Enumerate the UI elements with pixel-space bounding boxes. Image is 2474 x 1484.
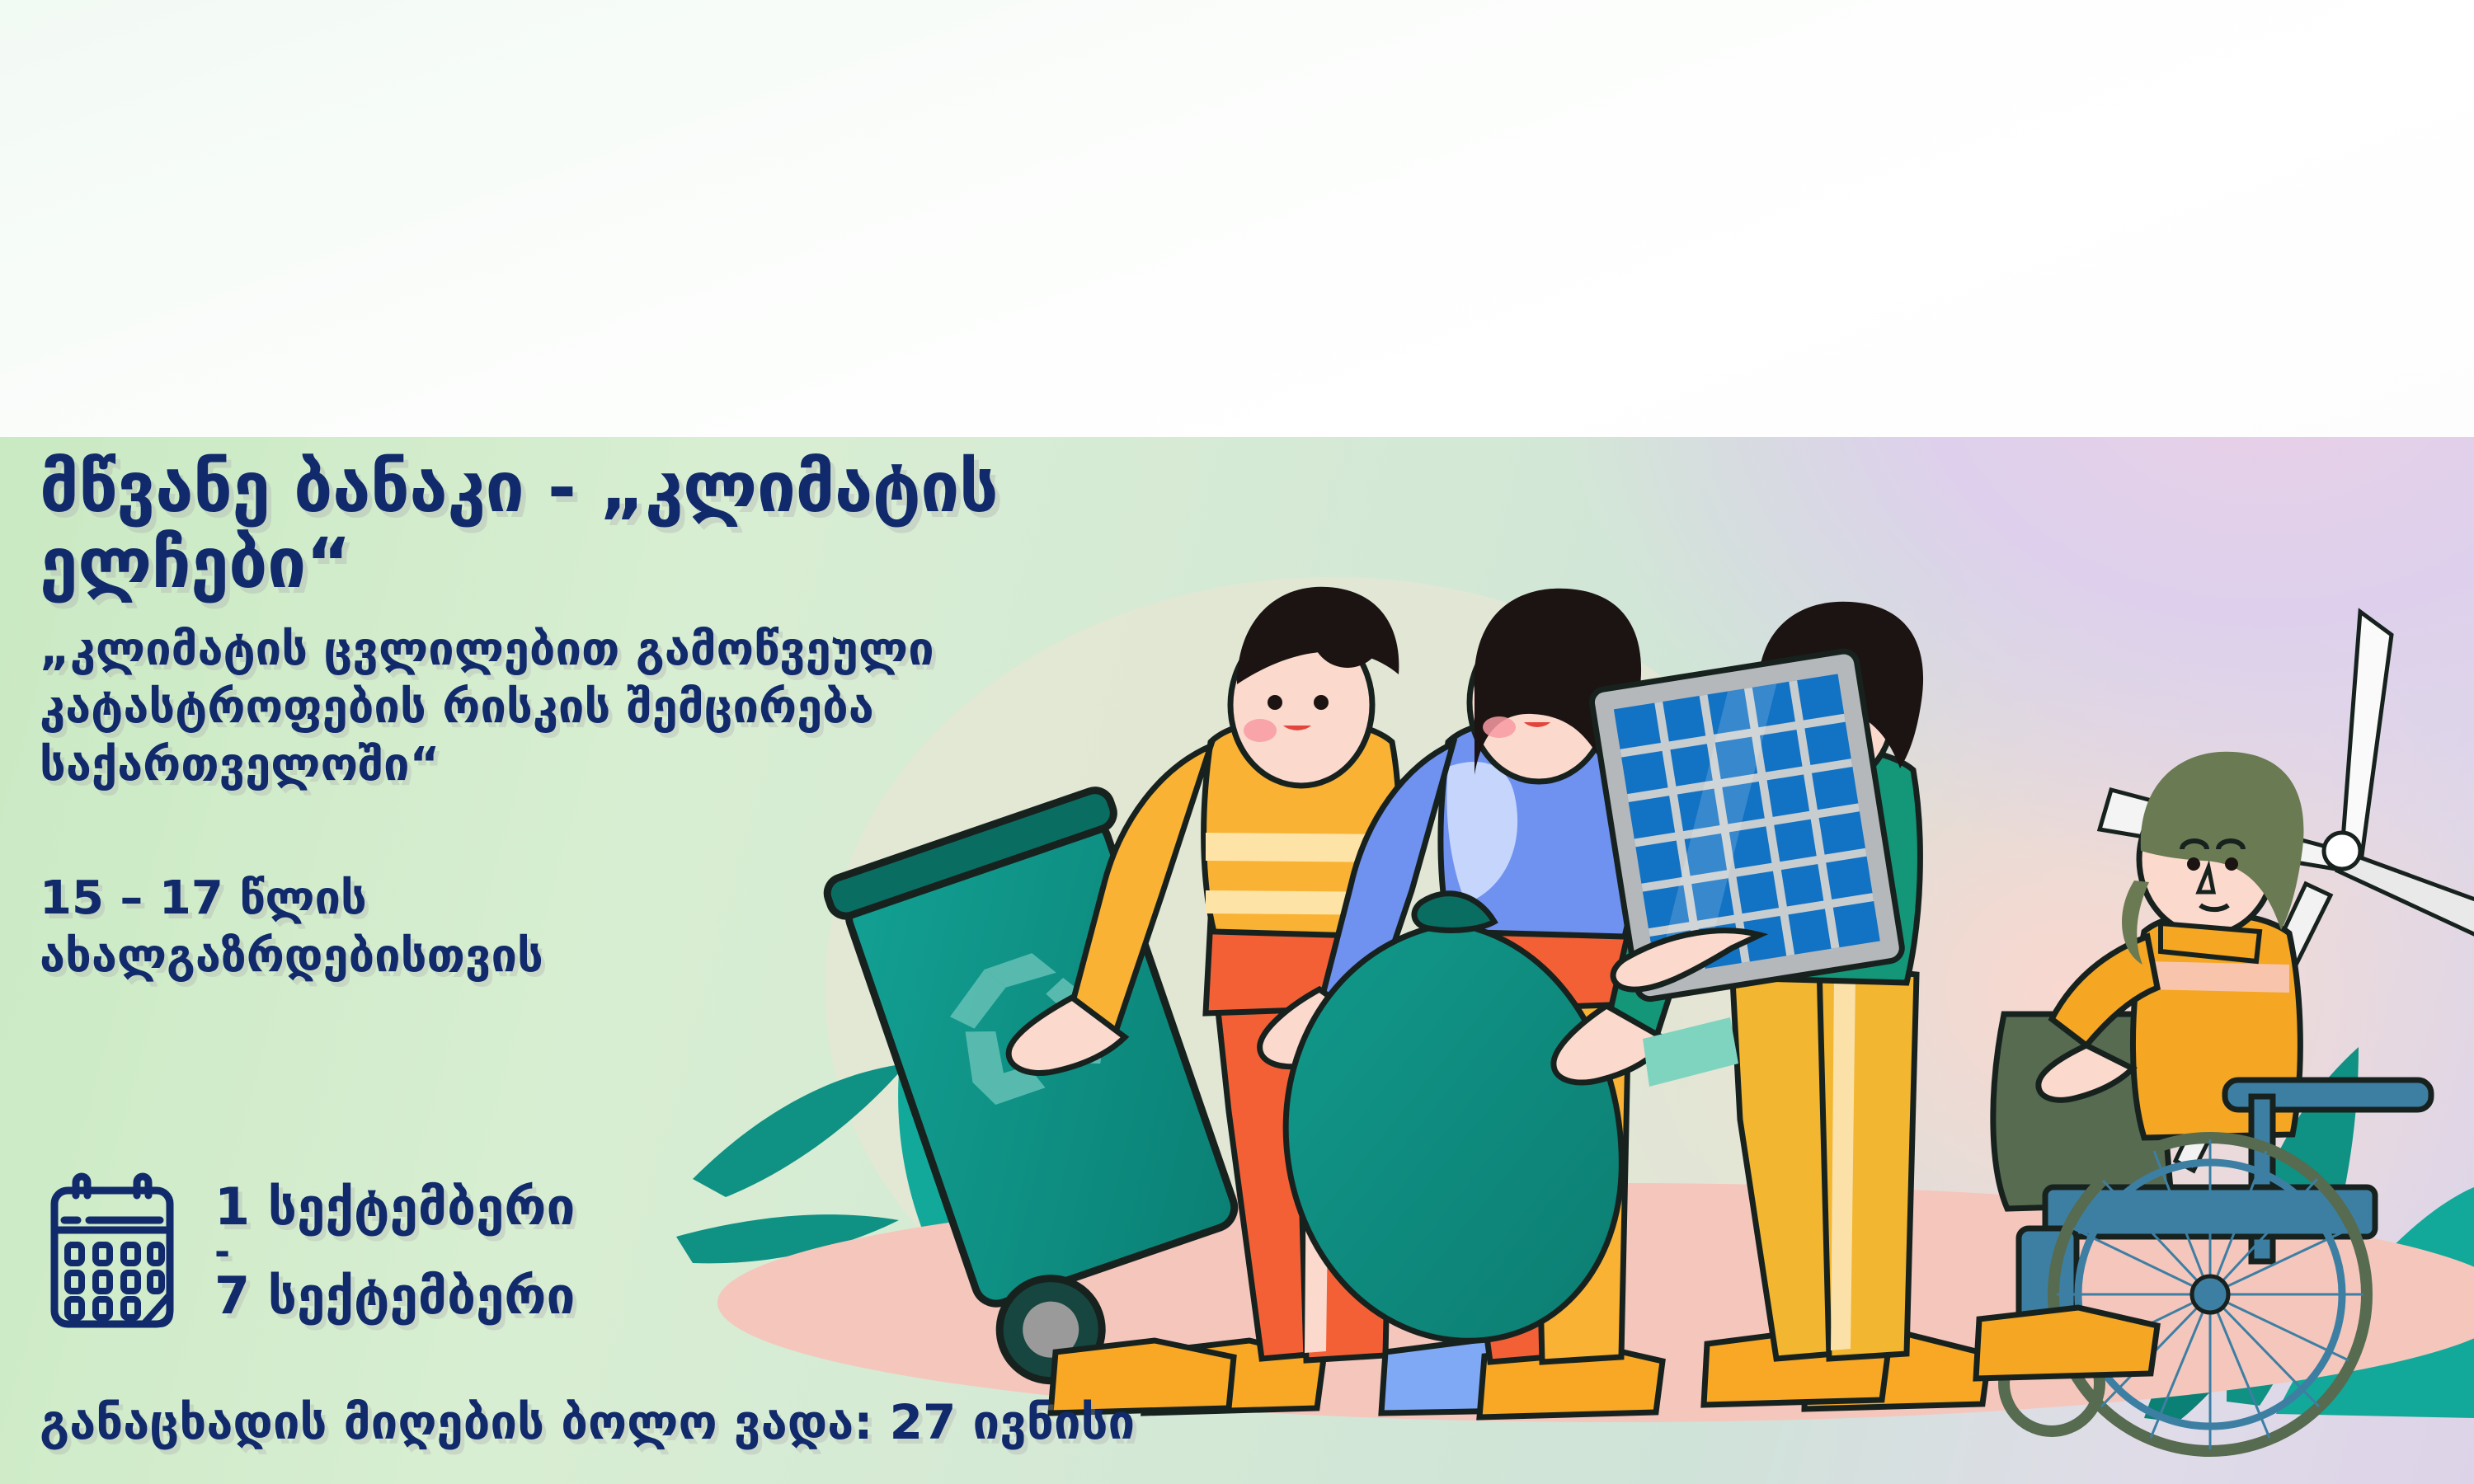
page-title: მწვანე ბანაკი - „კლიმატის ელჩები“ — [40, 449, 1326, 601]
date-start: 1 სექტემბერი — [214, 1176, 575, 1237]
age-group-line-2: ახალგაზრდებისთვის — [40, 927, 1326, 985]
poster-copy: მწვანე ბანაკი - „კლიმატის ელჩები“ „კლიმა… — [40, 449, 1326, 985]
date-range: 1 სექტემბერი - 7 სექტემბერი — [214, 1176, 575, 1327]
project-subtitle: „კლიმატის ცვლილებით გამოწვეული კატასტროფ… — [40, 621, 1326, 794]
date-end: 7 სექტემბერი — [214, 1266, 575, 1327]
age-group-line-1: 15 – 17 წლის — [40, 870, 1326, 927]
subtitle-line-2: კატასტროფების რისკის შემცირება — [40, 679, 1326, 736]
age-group: 15 – 17 წლის ახალგაზრდებისთვის — [40, 870, 1326, 985]
poster-root: GREEN CLIMATE FUND ძალა ერთობაშია გარემო… — [0, 0, 2474, 1484]
calendar-icon — [46, 1171, 178, 1331]
partner-logos-header — [0, 0, 2474, 437]
camp-dates: 1 სექტემბერი - 7 სექტემბერი — [46, 1171, 575, 1331]
subtitle-line-1: „კლიმატის ცვლილებით გამოწვეული — [40, 621, 1326, 679]
date-separator: - — [214, 1237, 575, 1266]
application-deadline: განაცხადის მიღების ბოლო ვადა: 27 ივნისი — [40, 1393, 1135, 1451]
subtitle-line-3: საქართველოში“ — [40, 736, 1326, 794]
